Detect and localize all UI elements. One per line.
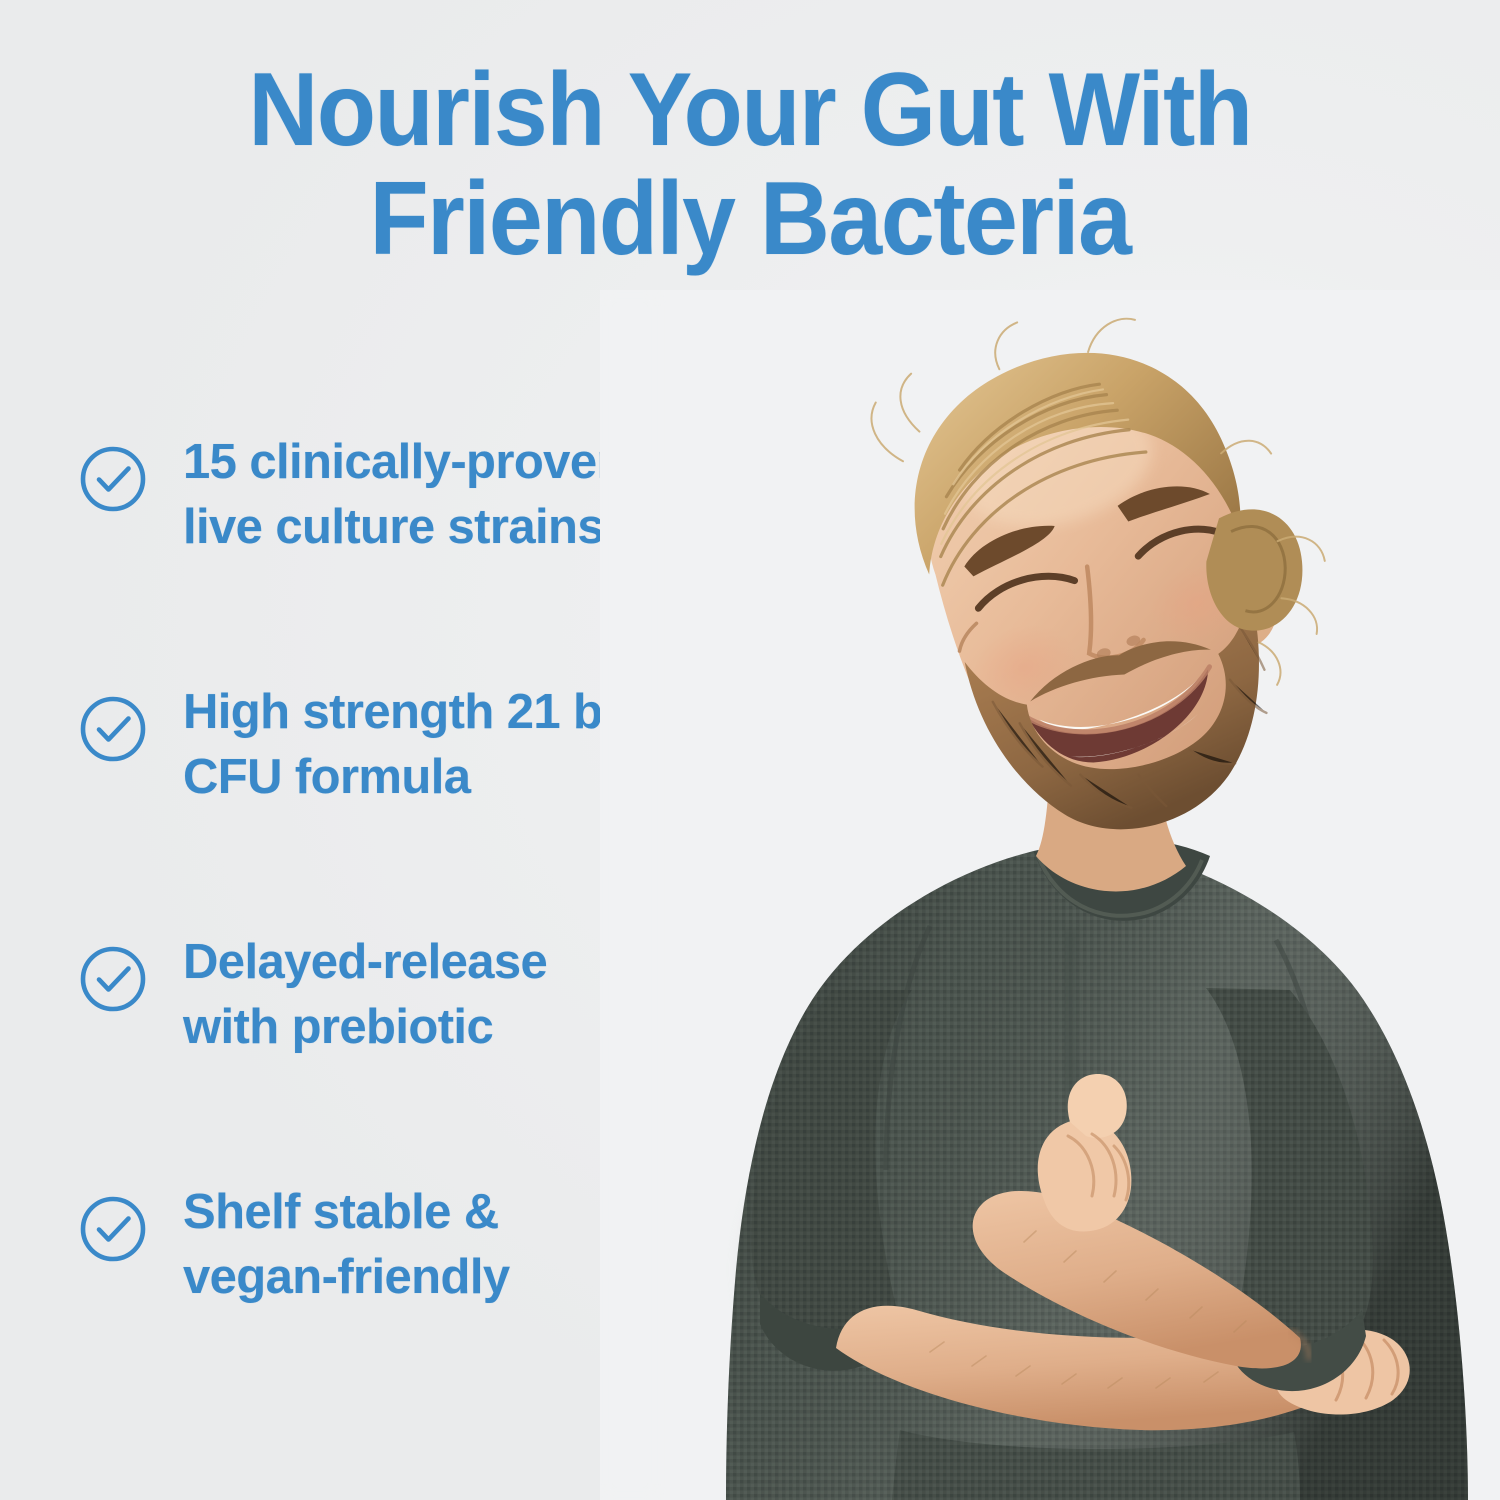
list-item-line-2: vegan-friendly: [183, 1245, 510, 1310]
list-item-line-1: Shelf stable &: [183, 1180, 510, 1245]
check-circle-icon: [78, 444, 148, 514]
probiotic-infographic-poster: Nourish Your Gut With Friendly Bacteria …: [0, 0, 1500, 1500]
headline-line-2: Friendly Bacteria: [53, 165, 1448, 274]
list-item-line-1: Delayed-release: [183, 930, 547, 995]
check-circle-icon: [78, 944, 148, 1014]
check-circle-icon: [78, 1194, 148, 1264]
list-item-label: Shelf stable & vegan-friendly: [183, 1180, 510, 1310]
model-photo: [600, 290, 1500, 1500]
list-item-line-1: 15 clinically-proven: [183, 430, 626, 495]
list-item-label: Delayed-release with prebiotic: [183, 930, 547, 1060]
page-title: Nourish Your Gut With Friendly Bacteria: [53, 56, 1448, 274]
list-item-line-2: with prebiotic: [183, 995, 547, 1060]
check-circle-icon: [78, 694, 148, 764]
list-item-label: 15 clinically-proven live culture strain…: [183, 430, 626, 560]
headline-line-1: Nourish Your Gut With: [53, 56, 1448, 165]
list-item-line-2: live culture strains: [183, 495, 626, 560]
